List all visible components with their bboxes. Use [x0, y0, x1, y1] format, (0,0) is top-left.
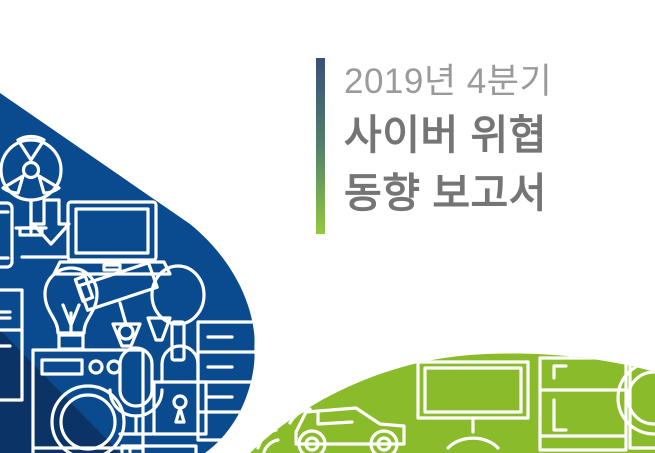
- report-title-line-1: 사이버 위협: [344, 106, 552, 164]
- report-cover-page: 2019년 4분기 사이버 위협 동향 보고서: [0, 0, 655, 453]
- green-icon-collage: [230, 340, 655, 453]
- title-text-group: 2019년 4분기 사이버 위협 동향 보고서: [344, 58, 552, 234]
- blue-icon-collage: [0, 80, 270, 453]
- report-period-label: 2019년 4분기: [344, 58, 552, 106]
- cover-title-block: 2019년 4분기 사이버 위협 동향 보고서: [316, 58, 552, 234]
- gradient-accent-bar: [316, 58, 325, 234]
- report-title-line-2: 동향 보고서: [344, 164, 552, 222]
